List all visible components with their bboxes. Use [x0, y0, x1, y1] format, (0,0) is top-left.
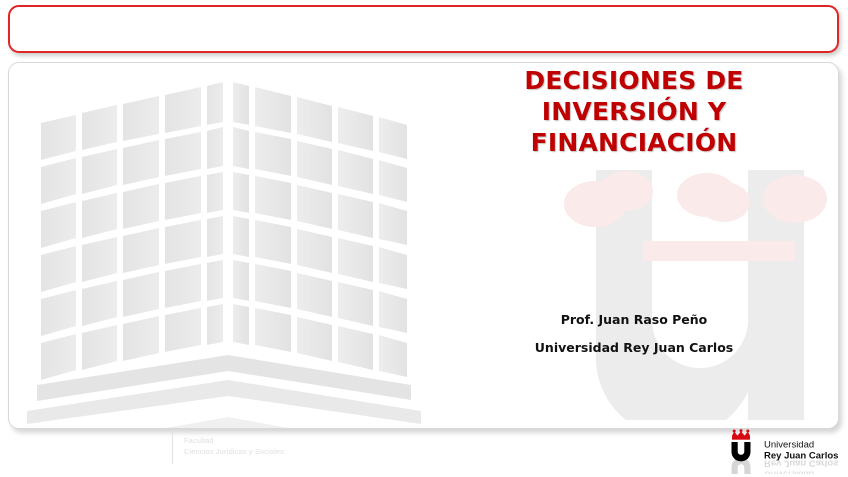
decor-blob: [677, 173, 737, 217]
urjc-logo: Universidad Rey Juan Carlos Universidad …: [720, 429, 842, 474]
presenter-name: Prof. Juan Raso Peño: [439, 306, 829, 334]
decor-blob: [763, 175, 827, 223]
footer-faculty: Facultad Ciencias Jurídicas y Sociales: [172, 432, 284, 466]
title-placeholder-box[interactable]: [8, 5, 839, 53]
footer-faculty-text: Facultad Ciencias Jurídicas y Sociales: [184, 432, 284, 457]
presenter-block: Prof. Juan Raso Peño Universidad Rey Jua…: [439, 306, 829, 362]
decor-bar: [643, 241, 795, 261]
decor-blob: [698, 182, 750, 222]
presenter-affiliation: Universidad Rey Juan Carlos: [439, 334, 829, 362]
footer-faculty-line-2: Ciencias Jurídicas y Sociales: [184, 446, 284, 457]
page-title: DECISIONES DE INVERSIÓN Y FINANCIACIÓN: [439, 65, 829, 158]
page-title-line-3: FINANCIACIÓN: [439, 127, 829, 158]
logo-line-1: Universidad: [764, 440, 814, 451]
crown-icon: [732, 429, 750, 440]
page-title-line-1: DECISIONES DE: [439, 65, 829, 96]
footer-divider: [172, 432, 173, 464]
svg-text:Rey Juan Carlos: Rey Juan Carlos: [764, 458, 838, 469]
page-title-line-2: INVERSIÓN Y: [439, 96, 829, 127]
building-graphic: [9, 62, 439, 429]
slide-content-box: DECISIONES DE INVERSIÓN Y FINANCIACIÓN P…: [8, 62, 839, 429]
decor-blob: [564, 181, 626, 227]
footer-faculty-line-1: Facultad: [184, 435, 284, 446]
decor-blob: [599, 171, 653, 211]
u-watermark-icon: [586, 170, 816, 420]
presentation-slide: DECISIONES DE INVERSIÓN Y FINANCIACIÓN P…: [0, 0, 848, 477]
